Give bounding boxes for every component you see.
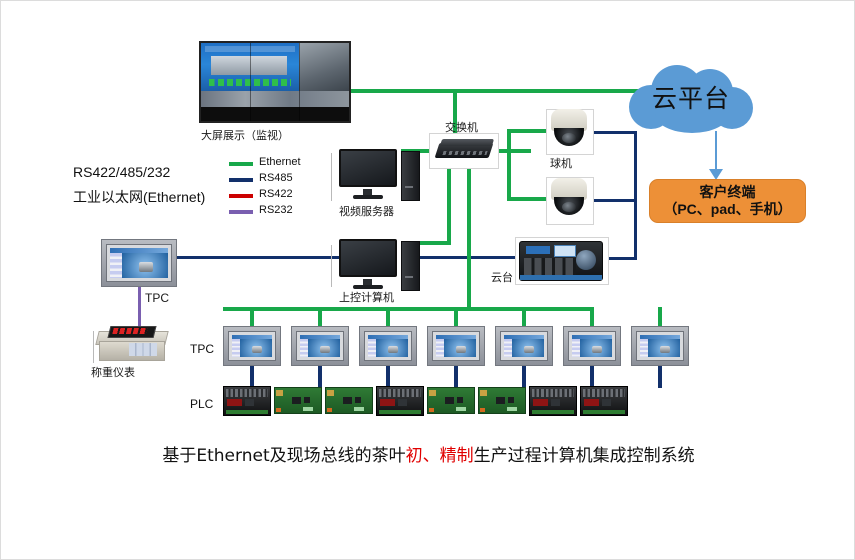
host-computer-caption: 上控计算机 [339,289,394,305]
switch-caption: 交换机 [445,119,478,135]
plc-module-black [376,386,424,416]
rs485-drop-tpc-plc-3 [386,366,390,388]
legend-label-rs232: RS232 [259,204,293,216]
pcb-power-block [276,408,282,412]
tpc-panel-screen [572,335,612,357]
ptz-lcd-screen [554,245,576,257]
weighing-instrument-digits [112,328,147,334]
ethernet-drop-tpc-4 [454,307,458,327]
host-computer-tower-led [405,276,413,278]
plc-terminal-strip [379,389,421,396]
pcb-chip-secondary [304,397,310,403]
ptz-joystick [576,250,596,270]
video-server-tower [401,151,420,201]
plc-label-plate [380,399,396,406]
video-wall-lower-pane [201,91,349,107]
tpc-panel-viewport [240,339,272,357]
diagram-title: 基于Ethernet及现场总线的茶叶初、精制生产过程计算机集成控制系统 [1,441,855,466]
video-wall-camera-pane [299,43,349,91]
tpc-panel [563,326,621,366]
tpc-panel-sidebar [572,339,580,357]
video-server-stand-base [353,195,383,199]
tpc-panel-graphic [592,346,602,353]
tpc-panel-inner [364,331,412,361]
rs485-drop-tpc-plc-5 [522,366,526,388]
dome-camera-bottom-eye [562,202,576,212]
plc-label-plate [584,399,600,406]
plc-port [245,399,254,406]
pcb-chip-secondary [508,397,514,403]
tpc-panel-screen [232,335,272,357]
video-server-tower-led [405,186,413,188]
diagram-title-prefix: 基于Ethernet及现场总线的茶叶 [162,446,405,466]
rs485-drop-tpc-plc-4 [454,366,458,388]
tpc-panel-sidebar [640,339,648,357]
legend-label-rs422: RS422 [259,188,293,200]
tpc-panel [223,326,281,366]
host-computer-tower [401,241,420,291]
ethernet-trunk-top [351,89,641,93]
pcb-chip-secondary [457,397,463,403]
pcb-header [456,407,466,411]
dome-camera-caption: 球机 [550,155,572,171]
rs485-tpc-host [169,256,339,259]
ethernet-drop-tpc-2 [318,307,322,327]
plc-io-connector [532,410,574,414]
client-terminal-line2: （PC、pad、手机） [663,201,791,219]
tpc-left-viewport [122,253,168,278]
legend-swatch-ethernet [229,162,253,166]
ethernet-drop-tpc-1 [250,307,254,327]
tpc-left-screen [110,248,168,278]
ethernet-field-bus [223,307,593,311]
tpc-panel-sidebar [368,339,376,357]
tpc-panel-screen [300,335,340,357]
tpc-panel [631,326,689,366]
rs485-camera-bottom [589,199,637,202]
bus-label-line1: RS422/485/232 [73,164,170,180]
ethernet-switch-down-a [447,159,451,243]
tpc-panel-graphic [252,346,262,353]
plc-label-plate [533,399,549,406]
ethernet-drop-tpc-6 [590,307,594,327]
tpc-panel-inner [500,331,548,361]
pcb-power-block [480,408,486,412]
leader-video-server [331,153,332,201]
plc-module-pcb [427,387,475,414]
rs485-camera-bus [634,131,637,259]
leader-scale [93,331,94,363]
ethernet-camera-branch-riser [507,129,511,201]
pcb-chip-main [496,397,504,405]
ethernet-camera-top-stub [507,129,549,133]
tpc-panel-graphic [456,346,466,353]
video-wall-bezel [201,107,349,121]
legend-swatch-rs485 [229,178,253,182]
rs232-tpc-scale [138,281,141,326]
diagram-title-suffix: 生产过程计算机集成控制系统 [474,446,695,466]
video-wall-caption: 大屏展示（监视） [201,127,289,143]
tpc-panel-viewport [648,339,680,357]
tpc-panel-graphic [524,346,534,353]
pcb-chip-main [292,397,300,405]
ptz-keypad [524,258,576,276]
tpc-panel [359,326,417,366]
rs485-drop-tpc-plc-2 [318,366,322,388]
tpc-panel-viewport [444,339,476,357]
ethernet-camera-bottom-stub [507,197,549,201]
rs485-drop-tpc-plc-7 [658,366,662,388]
tpc-panel-screen [504,335,544,357]
tpc-panel-inner [228,331,276,361]
tpc-panel-sidebar [436,339,444,357]
pcb-header [303,407,313,411]
plc-terminal-strip [226,389,268,396]
ptz-base-trim [520,275,602,280]
plc-module-pcb [325,387,373,414]
tpc-left-panel [101,239,177,287]
host-computer [339,239,421,291]
pcb-gold-connector [327,390,334,397]
pcb-header [354,407,364,411]
client-terminal-box: 客户终端 （PC、pad、手机） [649,179,806,223]
plc-module-black [580,386,628,416]
tpc-panel-inner [432,331,480,361]
ethernet-drop-tpc-7 [658,307,662,327]
tpc-panel-inner [568,331,616,361]
plc-port [398,399,407,406]
rs485-drop-tpc-plc-6 [590,366,594,388]
video-server [339,149,421,201]
tpc-panel-viewport [512,339,544,357]
pcb-gold-connector [429,390,436,397]
plc-port [602,399,611,406]
row-label-plc: PLC [190,397,213,411]
diagram-canvas: 大屏展示（监视） 云平台 客户终端 （PC、pad、手机） RS422/485/… [0,0,855,560]
rs485-drop-tpc-plc-1 [250,366,254,388]
plc-module-black [529,386,577,416]
dome-camera-top-eye [562,133,576,143]
pcb-power-block [429,408,435,412]
ethernet-drop-tpc-3 [386,307,390,327]
tpc-panel [427,326,485,366]
tpc-left-sidebar [110,253,122,278]
plc-terminal-strip [532,389,574,396]
switch-ports [442,151,487,155]
video-wall-seam-left [250,43,251,121]
pcb-header [507,407,517,411]
tpc-panel-sidebar [300,339,308,357]
leader-host-computer [331,245,332,287]
tpc-panel-sidebar [504,339,512,357]
tpc-left-graphic [139,262,153,272]
tpc-panel-inner [296,331,344,361]
plc-io-connector [226,410,268,414]
tpc-panel-viewport [308,339,340,357]
cloud-to-client-arrow [715,131,717,173]
tpc-panel-screen [640,335,680,357]
pcb-gold-connector [480,390,487,397]
switch-top [440,139,494,146]
tpc-panel-viewport [580,339,612,357]
ethernet-switch-down-b [467,159,471,309]
tpc-panel-graphic [320,346,330,353]
tpc-left-inner [106,244,172,282]
tpc-panel-screen [436,335,476,357]
pcb-chip-main [343,397,351,405]
legend-swatch-rs422 [229,194,253,198]
dome-camera-top [547,109,591,151]
legend-label-ethernet: Ethernet [259,156,301,168]
ptz-caption: 云台 [491,269,513,285]
tpc-panel-screen [368,335,408,357]
pcb-power-block [327,408,333,412]
network-switch [437,139,493,161]
pcb-chip-secondary [355,397,361,403]
video-server-caption: 视频服务器 [339,203,394,219]
host-computer-screen [339,239,397,277]
plc-io-connector [379,410,421,414]
ptz-indicator-panel [526,246,550,254]
bus-label-line2: 工业以太网(Ethernet) [73,187,205,207]
diagram-title-highlight: 初、精制 [406,446,474,466]
pcb-chip-main [445,397,453,405]
legend-label-rs485: RS485 [259,172,293,184]
video-wall-seam-right [299,43,300,121]
video-server-screen [339,149,397,187]
cloud-platform-label: 云平台 [629,79,753,115]
row-label-tpc: TPC [190,342,214,356]
ptz-keyboard-controller [519,241,603,281]
tpc-left-caption: TPC [145,291,169,305]
plc-module-pcb [478,387,526,414]
tpc-panel [291,326,349,366]
dome-camera-bottom [547,178,591,220]
tpc-panel-viewport [376,339,408,357]
weighing-instrument [97,323,167,363]
pcb-gold-connector [276,390,283,397]
plc-label-plate [227,399,243,406]
tpc-panel-graphic [388,346,398,353]
tpc-panel-graphic [660,346,670,353]
tpc-panel [495,326,553,366]
weighing-instrument-caption: 称重仪表 [91,364,135,380]
weighing-instrument-keypad [129,343,157,356]
plc-terminal-strip [583,389,625,396]
legend-swatch-rs232 [229,210,253,214]
client-terminal-line1: 客户终端 [700,184,756,202]
video-wall-display [199,41,351,123]
plc-module-pcb [274,387,322,414]
tpc-panel-sidebar [232,339,240,357]
plc-io-connector [583,410,625,414]
plc-port [551,399,560,406]
tpc-panel-inner [636,331,684,361]
plc-module-black [223,386,271,416]
ethernet-drop-tpc-5 [522,307,526,327]
